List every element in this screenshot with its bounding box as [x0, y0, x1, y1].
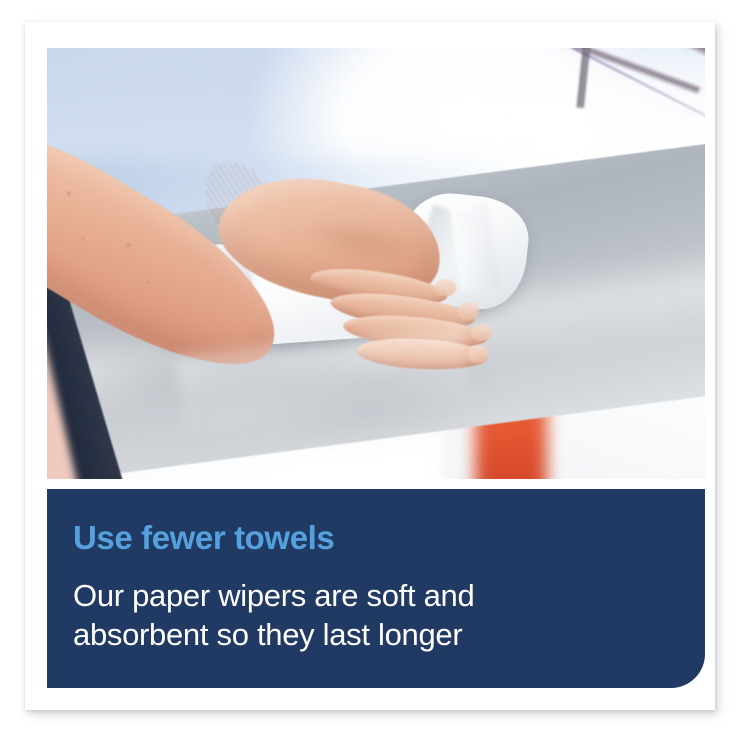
caption-headline: Use fewer towels	[73, 521, 675, 554]
hero-photo	[47, 48, 705, 479]
page-root: Use fewer towels Our paper wipers are so…	[0, 0, 750, 750]
promo-card: Use fewer towels Our paper wipers are so…	[25, 22, 715, 710]
photo-scene	[47, 48, 705, 479]
fingernail-ring	[471, 324, 492, 341]
caption-body: Our paper wipers are soft and absorbent …	[73, 576, 675, 654]
fingernail-middle	[458, 302, 479, 319]
fingernail-index	[435, 279, 456, 296]
caption-panel: Use fewer towels Our paper wipers are so…	[47, 489, 705, 688]
caption-body-line-1: Our paper wipers are soft and	[73, 576, 675, 615]
fingernail-little	[468, 345, 489, 362]
caption-body-line-2: absorbent so they last longer	[73, 615, 675, 654]
